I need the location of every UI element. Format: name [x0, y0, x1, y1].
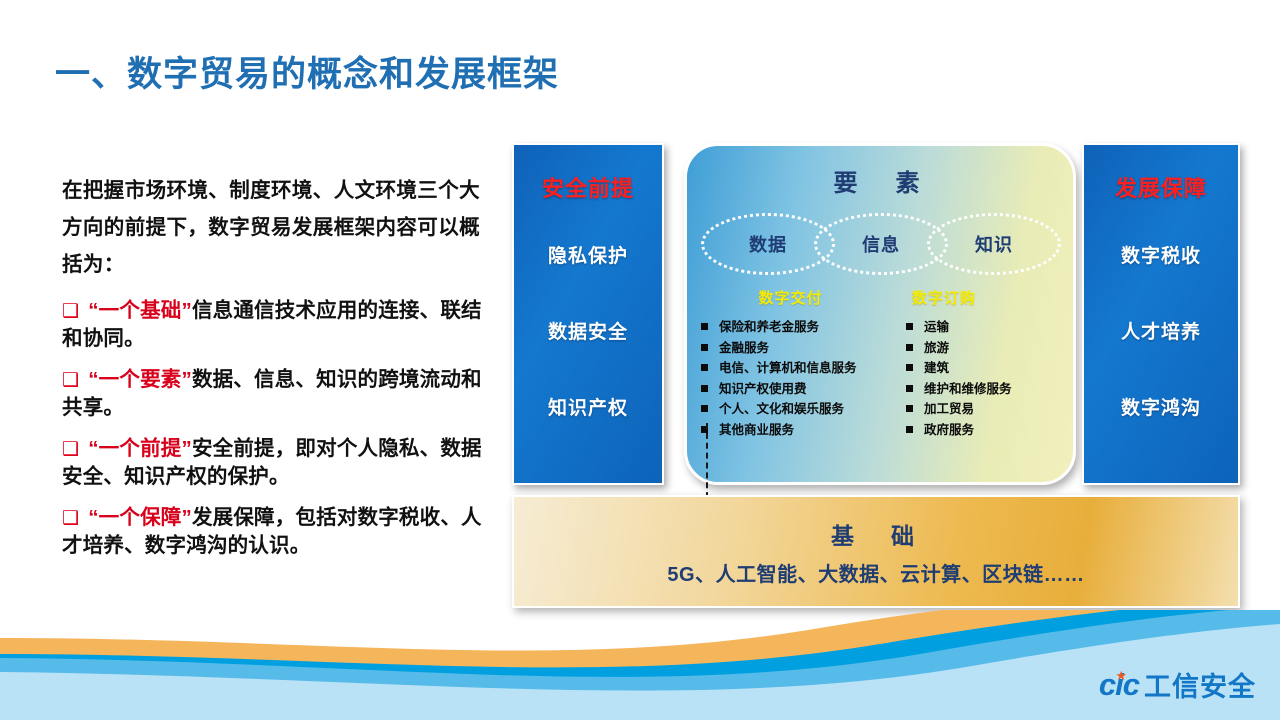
bullet-highlight: “一个基础” — [88, 299, 192, 322]
list-item-label: 其他商业服务 — [719, 423, 794, 437]
bullet-square-icon — [906, 426, 913, 433]
list-item-label: 运输 — [924, 320, 949, 334]
list-item: 建筑 — [906, 358, 1059, 379]
bullet-square-icon: ❑ — [62, 438, 79, 460]
category-list: 保险和养老金服务 金融服务 电信、计算机和信息服务 知识产权使用费 个人、文化和… — [701, 317, 880, 440]
bullet-square-icon — [701, 405, 708, 412]
bullet-square-icon — [906, 364, 913, 371]
list-item: 政府服务 — [906, 420, 1059, 441]
bullet-square-icon: ❑ — [62, 300, 79, 322]
foundation-bar: 基 础 5G、人工智能、大数据、云计算、区块链…… — [512, 495, 1240, 608]
logo-name: 工信安全 — [1144, 665, 1256, 704]
page-title: 一、数字贸易的概念和发展框架 — [55, 46, 559, 97]
bullet-square-icon — [701, 344, 708, 351]
list-item: ❑“一个要素”数据、信息、知识的跨境流动和共享。 — [62, 366, 486, 421]
bullet-highlight: “一个要素” — [88, 368, 192, 391]
bullet-square-icon — [906, 323, 913, 330]
category-digital-ordering: 数字订购 运输 旅游 建筑 维护和维修服务 加工贸易 政府服务 — [880, 287, 1059, 440]
list-item: ❑“一个保障”发展保障，包括对数字税收、人才培养、数字鸿沟的认识。 — [62, 504, 486, 559]
ellipse-label: 信息 — [862, 231, 900, 257]
bullet-square-icon — [906, 405, 913, 412]
category-list: 运输 旅游 建筑 维护和维修服务 加工贸易 政府服务 — [906, 317, 1059, 440]
pillar-item: 数字鸿沟 — [1121, 393, 1201, 420]
list-item-label: 维护和维修服务 — [924, 382, 1012, 396]
list-item-label: 加工贸易 — [924, 402, 974, 416]
elements-title: 要 素 — [687, 163, 1073, 198]
list-item-label: 政府服务 — [924, 423, 974, 437]
bullet-square-icon: ❑ — [62, 507, 79, 529]
list-item: 金融服务 — [701, 338, 880, 359]
bullet-square-icon: ❑ — [62, 369, 79, 391]
bullet-highlight: “一个前提” — [88, 437, 192, 460]
bullet-highlight: “一个保障” — [88, 506, 192, 529]
footer-wave-decoration — [0, 610, 1280, 720]
bullet-square-icon — [906, 344, 913, 351]
intro-paragraph: 在把握市场环境、制度环境、人文环境三个大方向的前提下，数字贸易发展框架内容可以概… — [62, 172, 486, 283]
pillar-item: 人才培养 — [1121, 317, 1201, 344]
list-item: 旅游 — [906, 338, 1059, 359]
list-item-label: 知识产权使用费 — [719, 382, 807, 396]
category-columns: 数字交付 保险和养老金服务 金融服务 电信、计算机和信息服务 知识产权使用费 个… — [687, 287, 1073, 440]
list-item-label: 个人、文化和娱乐服务 — [719, 402, 844, 416]
list-item: 其他商业服务 — [701, 420, 880, 441]
category-title: 数字交付 — [701, 287, 880, 308]
list-item: 个人、文化和娱乐服务 — [701, 399, 880, 420]
framework-diagram: 安全前提 隐私保护 数据安全 知识产权 要 素 数据 信息 知识 数字交付 保险… — [510, 140, 1252, 612]
pillar-development-guarantee: 发展保障 数字税收 人才培养 数字鸿沟 — [1082, 143, 1240, 485]
pillar-security-premise: 安全前提 隐私保护 数据安全 知识产权 — [512, 143, 664, 485]
pillar-item: 隐私保护 — [548, 241, 628, 268]
logo-mark-icon: cic★ — [1099, 667, 1139, 703]
list-item: 加工贸易 — [906, 399, 1059, 420]
list-item-label: 电信、计算机和信息服务 — [719, 361, 857, 375]
pillar-title: 安全前提 — [542, 171, 634, 203]
list-item-label: 保险和养老金服务 — [719, 320, 819, 334]
list-item-label: 金融服务 — [719, 341, 769, 355]
pillar-title: 发展保障 — [1115, 171, 1207, 203]
list-item: ❑“一个前提”安全前提，即对个人隐私、数据安全、知识产权的保护。 — [62, 435, 486, 490]
list-item: 维护和维修服务 — [906, 379, 1059, 400]
pillar-item: 数据安全 — [548, 317, 628, 344]
list-item: 运输 — [906, 317, 1059, 338]
list-item-label: 旅游 — [924, 341, 949, 355]
foundation-title: 基 础 — [831, 517, 921, 551]
list-item: 知识产权使用费 — [701, 379, 880, 400]
bullet-square-icon — [701, 364, 708, 371]
list-item-label: 建筑 — [924, 361, 949, 375]
ellipse-knowledge: 知识 — [927, 213, 1061, 275]
elements-card: 要 素 数据 信息 知识 数字交付 保险和养老金服务 金融服务 电信、计算机和信… — [684, 143, 1076, 485]
list-item: 电信、计算机和信息服务 — [701, 358, 880, 379]
logo-star-icon: ★ — [1115, 668, 1126, 684]
bullet-square-icon — [906, 385, 913, 392]
list-item: 保险和养老金服务 — [701, 317, 880, 338]
category-title: 数字订购 — [906, 287, 1059, 308]
list-item: ❑“一个基础”信息通信技术应用的连接、联结和协同。 — [62, 297, 486, 352]
pillar-item: 数字税收 — [1121, 241, 1201, 268]
category-digital-delivery: 数字交付 保险和养老金服务 金融服务 电信、计算机和信息服务 知识产权使用费 个… — [701, 287, 880, 440]
ellipse-label: 数据 — [749, 231, 787, 257]
footer-logo: cic★ 工信安全 — [1099, 665, 1256, 704]
elements-ellipse-row: 数据 信息 知识 — [687, 207, 1073, 283]
bullet-square-icon — [701, 323, 708, 330]
pillar-item: 知识产权 — [548, 393, 628, 420]
ellipse-label: 知识 — [975, 231, 1013, 257]
left-text-column: 在把握市场环境、制度环境、人文环境三个大方向的前提下，数字贸易发展框架内容可以概… — [62, 172, 486, 573]
bullet-square-icon — [701, 385, 708, 392]
foundation-subtitle: 5G、人工智能、大数据、云计算、区块链…… — [667, 558, 1084, 587]
